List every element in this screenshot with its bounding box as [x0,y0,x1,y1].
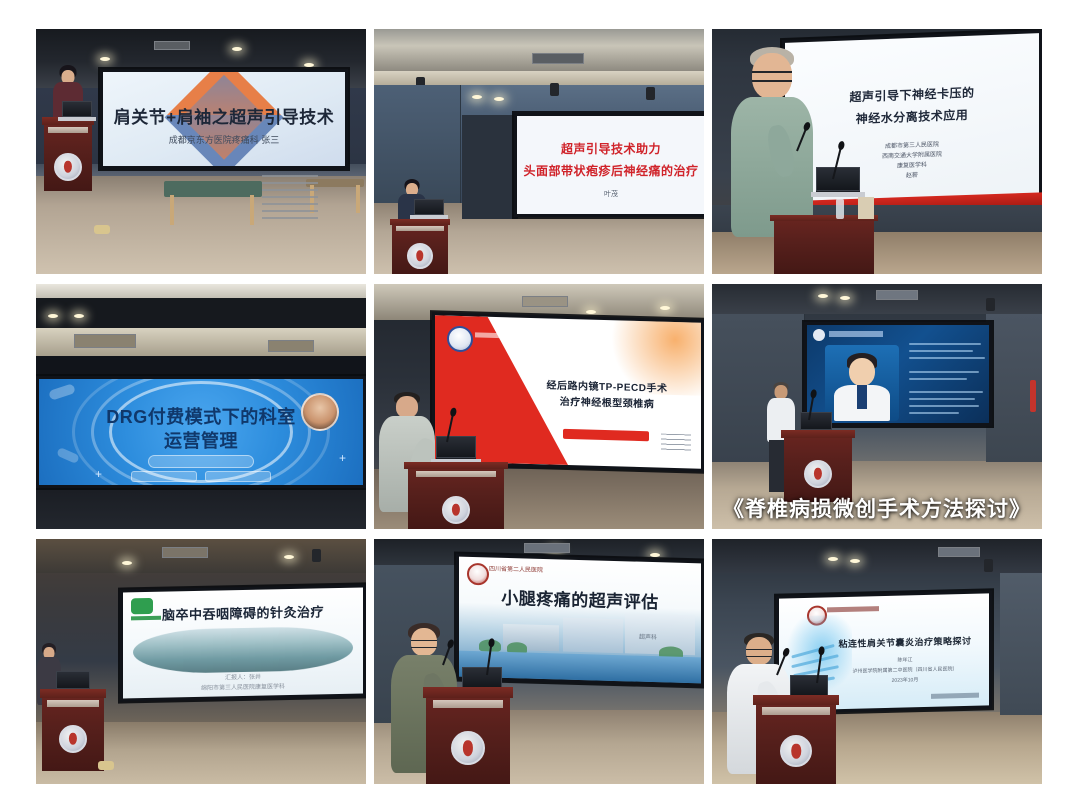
downlight-icon [850,559,860,563]
slide-title: 脑卒中吞咽障碍的针灸治疗 [123,603,363,624]
hospital-logo-icon [447,326,473,353]
laptop-lid [790,675,828,696]
ceiling-vent-icon [74,334,136,348]
podium-top [423,687,514,698]
podium-5[interactable] [408,462,504,529]
podium-plate [47,700,99,707]
ceiling-vent-icon [938,547,980,557]
podium-emblem-icon [780,735,812,767]
slide-pill [148,455,254,468]
podium-emblem-icon [54,153,82,181]
ceiling-speaker-icon [646,87,655,100]
downlight-icon [586,310,596,314]
laptop-5 [436,436,476,464]
slide-avatar [301,393,339,431]
ceiling-vent-icon [268,340,314,352]
downlight-icon [828,557,838,561]
slide-2: 超声引导技术助力 头面部带状疱疹后神经痛的治疗 叶茂 [517,116,704,214]
podium-8[interactable] [426,687,510,784]
downlight-icon [494,97,504,101]
laptop-3 [816,167,860,197]
led-screen-6 [804,322,992,426]
head [775,385,788,399]
slide-logo-text [827,606,879,612]
led-screen-4: DRG付费模式下的科室 运营管理 + + [36,376,366,488]
ceiling-speaker-icon [984,559,993,572]
slide-aerial-photo [133,626,354,675]
wall-panel [462,115,518,219]
downlight-icon [48,314,58,318]
podium-emblem-icon [804,460,832,488]
floor-object [98,761,114,770]
slide-text-line [909,391,983,393]
photo-1[interactable]: 肩关节+肩袖之超声引导技术 成都京东方医院疼痛科 张三 [36,29,366,274]
led-screen-7: 脑卒中吞咽障碍的针灸治疗 汇报人：张井 绵阳市第三人民医院康复医学科 [120,584,366,701]
photo-caption: 《脊椎病损微创手术方法探讨》 [712,493,1042,523]
podium-1[interactable] [44,117,92,191]
name-card [858,197,874,219]
ceiling-edge [36,284,366,298]
podium-9[interactable] [756,695,836,784]
ceiling [374,29,704,71]
photo-collage-page: 肩关节+肩袖之超声引导技术 成都京东方医院疼痛科 张三 [0,0,1080,810]
podium-2[interactable] [392,219,448,274]
ceiling-vent-icon [524,543,570,553]
ceiling [36,298,366,328]
wall-upper [36,356,366,378]
slide-title-line1: 超声引导下神经卡压的 [785,83,1039,108]
photo-2[interactable]: 超声引导技术助力 头面部带状疱疹后神经痛的治疗 叶茂 [374,29,704,274]
table-leg [170,195,174,225]
photo-3[interactable]: 超声引导下神经卡压的 神经水分离技术应用 成都市第三人民医院 西南交通大学附属医… [712,29,1042,274]
photo-6[interactable]: 《脊椎病损微创手术方法探讨》 [712,284,1042,529]
slide-chip-right [205,471,271,482]
laptop-lid [816,167,860,191]
laptop-lid [462,667,502,688]
wall-panel [1000,573,1042,715]
podium-emblem-icon [59,725,87,753]
ceiling-vent-icon [162,547,208,558]
treatment-table [164,181,262,197]
slide-tag [563,429,649,441]
podium-top [390,219,450,225]
ceiling-vent-icon [532,53,584,64]
slide-6 [807,325,989,423]
podium-plate [433,700,504,709]
floor-object [94,225,110,234]
downlight-icon [472,95,482,99]
table-leg [356,185,360,213]
podium-plate [396,226,443,231]
slide-header: 四川省第二人民医院 [489,565,543,575]
slide-text-line [909,371,979,373]
glasses-icon [752,71,792,82]
downlight-icon [840,296,850,300]
downlight-icon [232,47,242,51]
photo-9[interactable]: 粘连性肩关节囊炎治疗策略探讨 陈年江 泸州医学院附属第二中医院（四川省人民医院）… [712,539,1042,784]
ceiling-vent-icon [876,290,918,300]
podium-3[interactable] [774,215,874,274]
slide-title: 肩关节+肩袖之超声引导技术 [103,107,345,128]
wall-sign [1030,380,1036,412]
podium-top [781,430,854,438]
podium-top [40,689,107,698]
podium-plate [48,127,88,134]
podium-6[interactable] [784,430,852,502]
podium-7[interactable] [42,689,104,771]
downlight-icon [660,306,670,310]
slide-8: 四川省第二人民医院 小腿疼痛的超声评估 超声科 [459,557,701,684]
slide-deco [48,383,76,401]
photo-grid: 肩关节+肩袖之超声引导技术 成都京东方医院疼痛科 张三 [36,29,1044,783]
water-bottle-icon [836,199,844,219]
podium-top [404,462,508,469]
ceiling-speaker-icon [986,298,995,311]
slide-footer [931,693,979,699]
slide-title-line1: 超声引导技术助力 [517,142,704,157]
laptop-base [58,117,95,121]
laptop-lid [56,671,90,689]
hospital-emblem-icon [467,563,489,586]
slide-4: DRG付费模式下的科室 运营管理 + + [39,379,363,485]
laptop-1 [62,101,92,121]
ceiling-speaker-icon [312,549,321,562]
downlight-icon [100,57,110,61]
head [396,396,418,418]
slide-chip-left [131,471,197,482]
slide-title-line2: 运营管理 [39,430,363,453]
slide-fine-print [661,434,691,453]
portrait-tie [857,385,867,409]
photo-4[interactable]: DRG付费模式下的科室 运营管理 + + [36,284,366,529]
slide-title-line2: 治疗神经根型颈椎病 [519,396,695,413]
slide-1: 肩关节+肩袖之超声引导技术 成都京东方医院疼痛科 张三 [103,72,345,166]
table-leg [250,195,254,225]
downlight-icon [284,555,294,559]
slide-text-line [909,412,959,414]
led-screen-1: 肩关节+肩袖之超声引导技术 成都京东方医院疼痛科 张三 [100,69,348,169]
slide-7: 脑卒中吞咽障碍的针灸治疗 汇报人：张井 绵阳市第三人民医院康复医学科 [123,587,363,698]
glasses-icon [411,640,437,648]
slide-text-line [909,405,979,407]
led-screen-2: 超声引导技术助力 头面部带状疱疹后神经痛的治疗 叶茂 [514,113,704,217]
ceiling-vent-icon [522,296,568,307]
laptop-lid [414,199,444,215]
downlight-icon [304,63,314,67]
portrait-face [849,358,875,386]
photo-8[interactable]: 四川省第二人民医院 小腿疼痛的超声评估 超声科 [374,539,704,784]
slide-title-line2: 头面部带状疱疹后神经痛的治疗 [517,164,704,179]
doctor-portrait [825,345,899,421]
podium-emblem-icon [451,731,485,765]
podium-emblem-icon [407,243,433,269]
podium-plate [416,471,497,477]
podium-top [753,695,839,705]
slide-plus-icon: + [95,467,102,481]
laptop-lid [436,436,476,458]
floor [36,487,366,529]
slide-plus-icon: + [339,451,346,465]
laptop-2 [414,199,444,219]
photo-5[interactable]: 经后路内镜TP-PECD手术 治疗神经根型颈椎病 [374,284,704,529]
downlight-icon [74,314,84,318]
slide-text-line [909,343,981,345]
laptop-lid [62,101,92,117]
slide-text-line [909,378,967,380]
podium-emblem-icon [442,496,470,524]
ceiling-speaker-icon [550,83,559,96]
slide-text-line [909,350,973,352]
downlight-icon [122,561,132,565]
slide-text-line [909,398,975,400]
slide-title-line2: 神经水分离技术应用 [785,105,1039,130]
glasses-icon [746,649,772,657]
ceiling-vent-icon [154,41,190,50]
slide-text-line [909,357,985,359]
slide-subtitle: 成都京东方医院疼痛科 张三 [103,134,345,146]
slide-logo-text [829,331,883,337]
equipment-cart [262,175,318,219]
slide-logo-icon [813,329,825,341]
slide-title: 小腿疼痛的超声评估 [459,587,701,615]
downlight-icon [650,553,660,557]
slide-subtitle: 叶茂 [517,190,704,199]
photo-7[interactable]: 脑卒中吞咽障碍的针灸治疗 汇报人：张井 绵阳市第三人民医院康复医学科 [36,539,366,784]
podium-plate [762,707,829,715]
downlight-icon [818,294,828,298]
floor-fill [712,232,1042,274]
laptop-lid [800,412,832,430]
